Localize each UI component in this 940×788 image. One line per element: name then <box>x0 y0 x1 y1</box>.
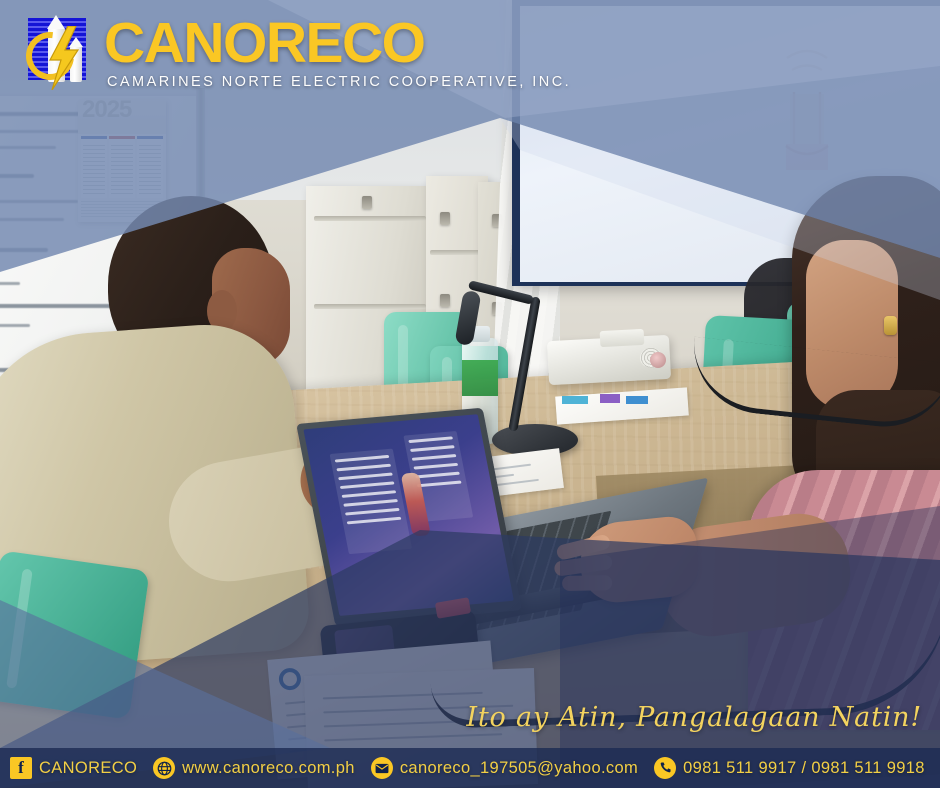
projector-lens <box>650 352 666 368</box>
brand-header: CANORECO CAMARINES NORTE ELECTRIC COOPER… <box>18 12 571 94</box>
sticky-note <box>600 394 620 403</box>
footer-phone[interactable]: 0981 511 9917 / 0981 511 9918 <box>654 757 925 779</box>
tagline: Ito ay Atin, Pangalagaan Natin! <box>466 702 922 733</box>
calendar-year: 2025 <box>82 100 131 124</box>
meeting-photo: 2025 <box>0 0 940 788</box>
green-chair <box>0 550 150 719</box>
footer-email[interactable]: canoreco_197505@yahoo.com <box>371 757 638 779</box>
globe-icon <box>153 757 175 779</box>
brand-title: CANORECO <box>104 16 571 71</box>
footer-email-label: canoreco_197505@yahoo.com <box>400 759 638 778</box>
footer-website[interactable]: www.canoreco.com.ph <box>153 757 355 779</box>
footer-facebook[interactable]: f CANORECO <box>10 757 137 779</box>
footer-contact-bar: f CANORECO www.canoreco.com.ph canoreco_… <box>0 748 940 788</box>
woman-earring <box>884 316 897 335</box>
sticky-note <box>562 396 588 404</box>
sticky-note <box>626 396 648 404</box>
canoreco-logo-icon <box>18 12 96 94</box>
projector-top-panel <box>600 329 645 347</box>
footer-facebook-label: CANORECO <box>39 759 137 778</box>
footer-phone-label: 0981 511 9917 / 0981 511 9918 <box>683 759 925 778</box>
facebook-icon: f <box>10 757 32 779</box>
email-icon <box>371 757 393 779</box>
canoreco-social-card: 2025 <box>0 0 940 788</box>
bottle-label <box>462 360 498 396</box>
document-logo <box>278 667 302 691</box>
footer-website-label: www.canoreco.com.ph <box>182 759 355 778</box>
laptop-screen <box>303 414 514 616</box>
phone-icon <box>654 757 676 779</box>
lightning-bolt-icon <box>46 26 82 90</box>
brand-subtitle: CAMARINES NORTE ELECTRIC COOPERATIVE, IN… <box>107 74 571 90</box>
laptop-lid <box>296 408 522 627</box>
wall-calendar: 2025 <box>78 100 166 222</box>
